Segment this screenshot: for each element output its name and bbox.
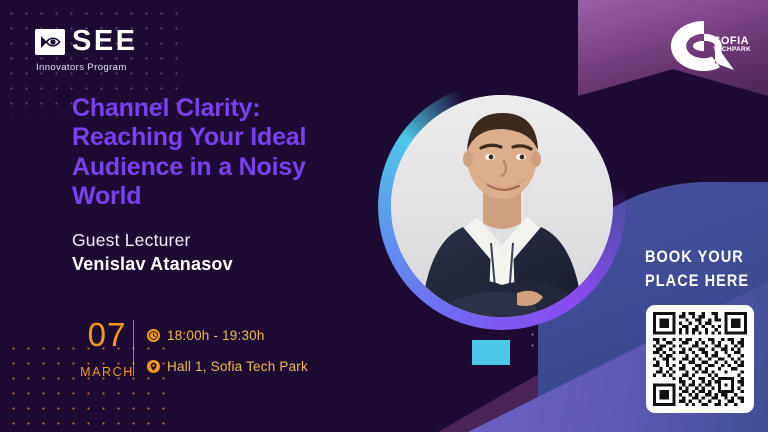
lecturer-name: Venislav Atanasov <box>72 254 233 275</box>
book-cta-text: BOOK YOUR PLACE HERE <box>645 246 749 294</box>
see-logo-subtitle: Innovators Program <box>36 62 138 73</box>
book-cta-line1: BOOK YOUR <box>645 246 749 270</box>
sofia-techpark-logo: SOFIA TECHPARK <box>668 20 752 72</box>
event-time: 18:00h - 19:30h <box>147 328 265 343</box>
book-cta-line2: PLACE HERE <box>645 270 749 294</box>
event-location: Hall 1, Sofia Tech Park <box>147 359 308 374</box>
event-day: 07 <box>72 318 142 351</box>
lecturer-label: Guest Lecturer <box>72 230 191 251</box>
qr-code[interactable] <box>646 305 754 413</box>
teal-accent-chip <box>472 340 510 365</box>
event-time-text: 18:00h - 19:30h <box>167 328 265 343</box>
event-date-block: 07 MARCH <box>72 318 142 379</box>
event-month: MARCH <box>72 365 142 379</box>
event-title: Channel Clarity: Reaching Your Ideal Aud… <box>72 94 340 211</box>
speaker-portrait <box>391 95 613 317</box>
stp-name-line2: TECHPARK <box>713 47 751 54</box>
event-location-row: Hall 1, Sofia Tech Park <box>147 359 308 374</box>
clock-icon <box>147 329 160 342</box>
vertical-divider <box>133 320 134 376</box>
sofia-techpark-wordmark: SOFIA TECHPARK <box>713 36 751 54</box>
see-logo-row: SEE <box>35 27 138 56</box>
see-logo-wordmark: SEE <box>72 27 138 56</box>
event-time-row: 18:00h - 19:30h <box>147 328 265 343</box>
see-logo: SEE Innovators Program <box>35 27 138 73</box>
event-poster: SEE Innovators Program SOFIA TECHPARK Ch… <box>0 0 768 432</box>
location-pin-icon <box>147 360 160 373</box>
play-eye-icon <box>35 29 65 55</box>
event-location-text: Hall 1, Sofia Tech Park <box>167 359 308 374</box>
